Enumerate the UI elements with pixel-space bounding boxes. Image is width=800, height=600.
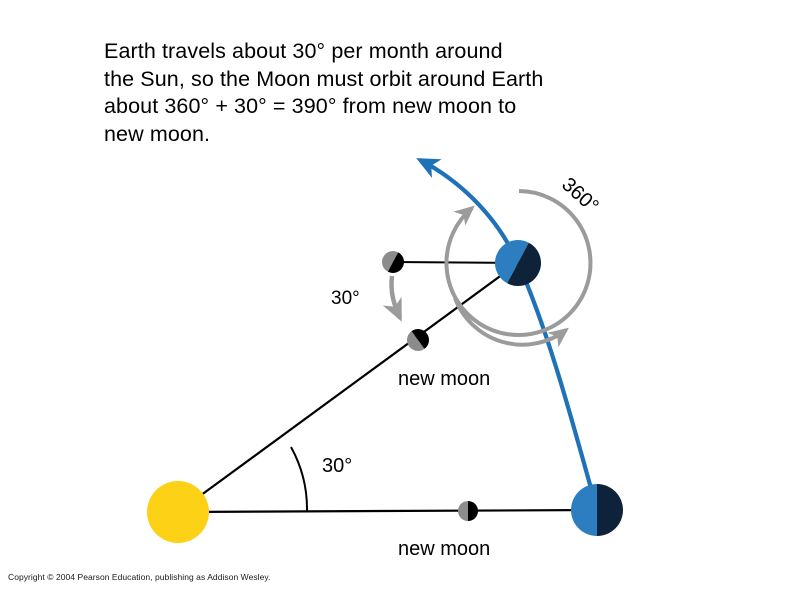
label-sun-30-degrees: 30°	[322, 455, 352, 477]
label-360-degrees: 360°	[557, 174, 602, 218]
moon-extra-30-arrow	[391, 276, 400, 318]
sun-to-earth-baseline	[178, 510, 597, 512]
earth-start-body	[571, 484, 623, 536]
label-new-moon-lower: new moon	[398, 538, 490, 560]
moon-after-360-body	[378, 247, 408, 277]
moon-360-orbit-arrow-lower	[455, 298, 566, 345]
label-moon-30-degrees: 30°	[331, 288, 360, 309]
label-new-moon-upper: new moon	[398, 368, 490, 390]
sun-body	[147, 481, 209, 543]
sun-angle-arc	[291, 447, 307, 512]
copyright-notice: Copyright © 2004 Pearson Education, publ…	[8, 572, 270, 582]
diagram-canvas: 360° 30° 30° new moon new moon	[0, 0, 800, 600]
earth-later-body	[487, 232, 549, 294]
moon-new-lower-body	[458, 501, 478, 521]
figure-root: Earth travels about 30° per month around…	[0, 0, 800, 600]
